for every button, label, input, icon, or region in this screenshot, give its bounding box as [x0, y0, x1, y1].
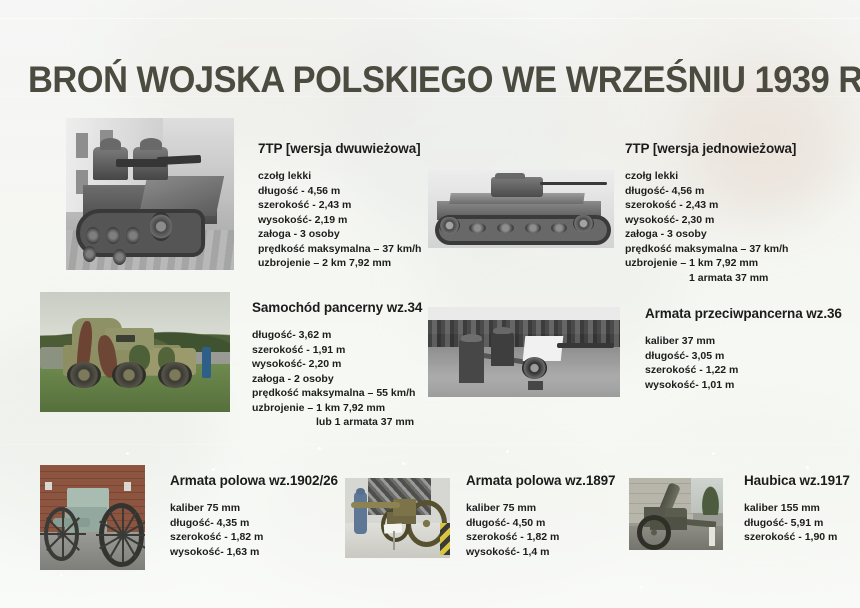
spec-item: wysokość- 1,01 m: [645, 378, 860, 393]
entry-title: 7TP [wersja dwuwieżowa]: [258, 141, 458, 156]
photo-howitzer-wz1917: [629, 478, 723, 550]
entry-armata-polowa-wz1897: Armata polowa wz.1897 kaliber 75 mm dług…: [466, 473, 641, 559]
entry-title: Armata polowa wz.1902/26: [170, 473, 345, 488]
photo-field-gun-wz1902-26: [40, 465, 145, 570]
spec-item: kaliber 155 mm: [744, 501, 859, 516]
spec-item: czołg lekki: [625, 169, 835, 184]
spec-item: kaliber 75 mm: [466, 501, 641, 516]
entry-specs: czołg lekki długość- 4,56 m szerokość - …: [625, 169, 835, 285]
spec-item: kaliber 37 mm: [645, 334, 860, 349]
spec-item: wysokość- 2,30 m: [625, 213, 835, 228]
spec-item: wysokość- 1,63 m: [170, 545, 345, 560]
spec-item: lub 1 armata 37 mm: [252, 415, 467, 430]
photo-7tp-twin-turret: [66, 118, 234, 270]
entry-armata-polowa-wz1902-26: Armata polowa wz.1902/26 kaliber 75 mm d…: [170, 473, 345, 559]
spec-item: 1 armata 37 mm: [625, 271, 835, 286]
entry-haubica-wz1917: Haubica wz.1917 kaliber 155 mm długość- …: [744, 473, 859, 545]
spec-item: długość- 3,05 m: [645, 349, 860, 364]
page-title: BROŃ WOJSKA POLSKIEGO WE WRZEŚNIU 1939 R…: [28, 61, 860, 98]
entry-title: Haubica wz.1917: [744, 473, 859, 488]
spec-item: szerokość - 2,43 m: [625, 198, 835, 213]
spec-item: załoga - 3 osoby: [625, 227, 835, 242]
spec-item: długość- 4,35 m: [170, 516, 345, 531]
spec-item: długość- 5,91 m: [744, 516, 859, 531]
spec-item: długość- 4,56 m: [625, 184, 835, 199]
entry-7tp-jednowiezowa: 7TP [wersja jednowieżowa] czołg lekki dł…: [625, 141, 835, 285]
entry-specs: kaliber 75 mm długość- 4,35 m szerokość …: [170, 501, 345, 559]
spec-item: szerokość - 1,82 m: [170, 530, 345, 545]
spec-item: szerokość - 1,22 m: [645, 363, 860, 378]
spec-item: długość- 4,50 m: [466, 516, 641, 531]
photo-armored-car-wz34: [40, 292, 230, 412]
photo-7tp-single-turret: [428, 170, 614, 248]
entry-title: Armata przeciwpancerna wz.36: [645, 306, 860, 321]
spec-item: uzbrojenie – 2 km 7,92 mm: [258, 256, 458, 271]
photo-field-gun-wz1897: [345, 478, 450, 558]
entry-specs: kaliber 155 mm długość- 5,91 m szerokość…: [744, 501, 859, 545]
spec-item: uzbrojenie – 1 km 7,92 mm: [625, 256, 835, 271]
spec-item: prędkość maksymalna – 37 km/h: [625, 242, 835, 257]
entry-specs: kaliber 75 mm długość- 4,50 m szerokość …: [466, 501, 641, 559]
spec-item: wysokość- 1,4 m: [466, 545, 641, 560]
poster-canvas: BROŃ WOJSKA POLSKIEGO WE WRZEŚNIU 1939 R…: [0, 0, 860, 608]
spec-item: szerokość - 1,82 m: [466, 530, 641, 545]
entry-specs: kaliber 37 mm długość- 3,05 m szerokość …: [645, 334, 860, 392]
entry-title: Armata polowa wz.1897: [466, 473, 641, 488]
spec-item: kaliber 75 mm: [170, 501, 345, 516]
spec-item: szerokość - 1,90 m: [744, 530, 859, 545]
entry-armata-przeciwpancerna-wz36: Armata przeciwpancerna wz.36 kaliber 37 …: [645, 306, 860, 392]
spec-item: uzbrojenie – 1 km 7,92 mm: [252, 401, 467, 416]
photo-at-gun-wz36: [428, 307, 620, 397]
entry-title: 7TP [wersja jednowieżowa]: [625, 141, 835, 156]
